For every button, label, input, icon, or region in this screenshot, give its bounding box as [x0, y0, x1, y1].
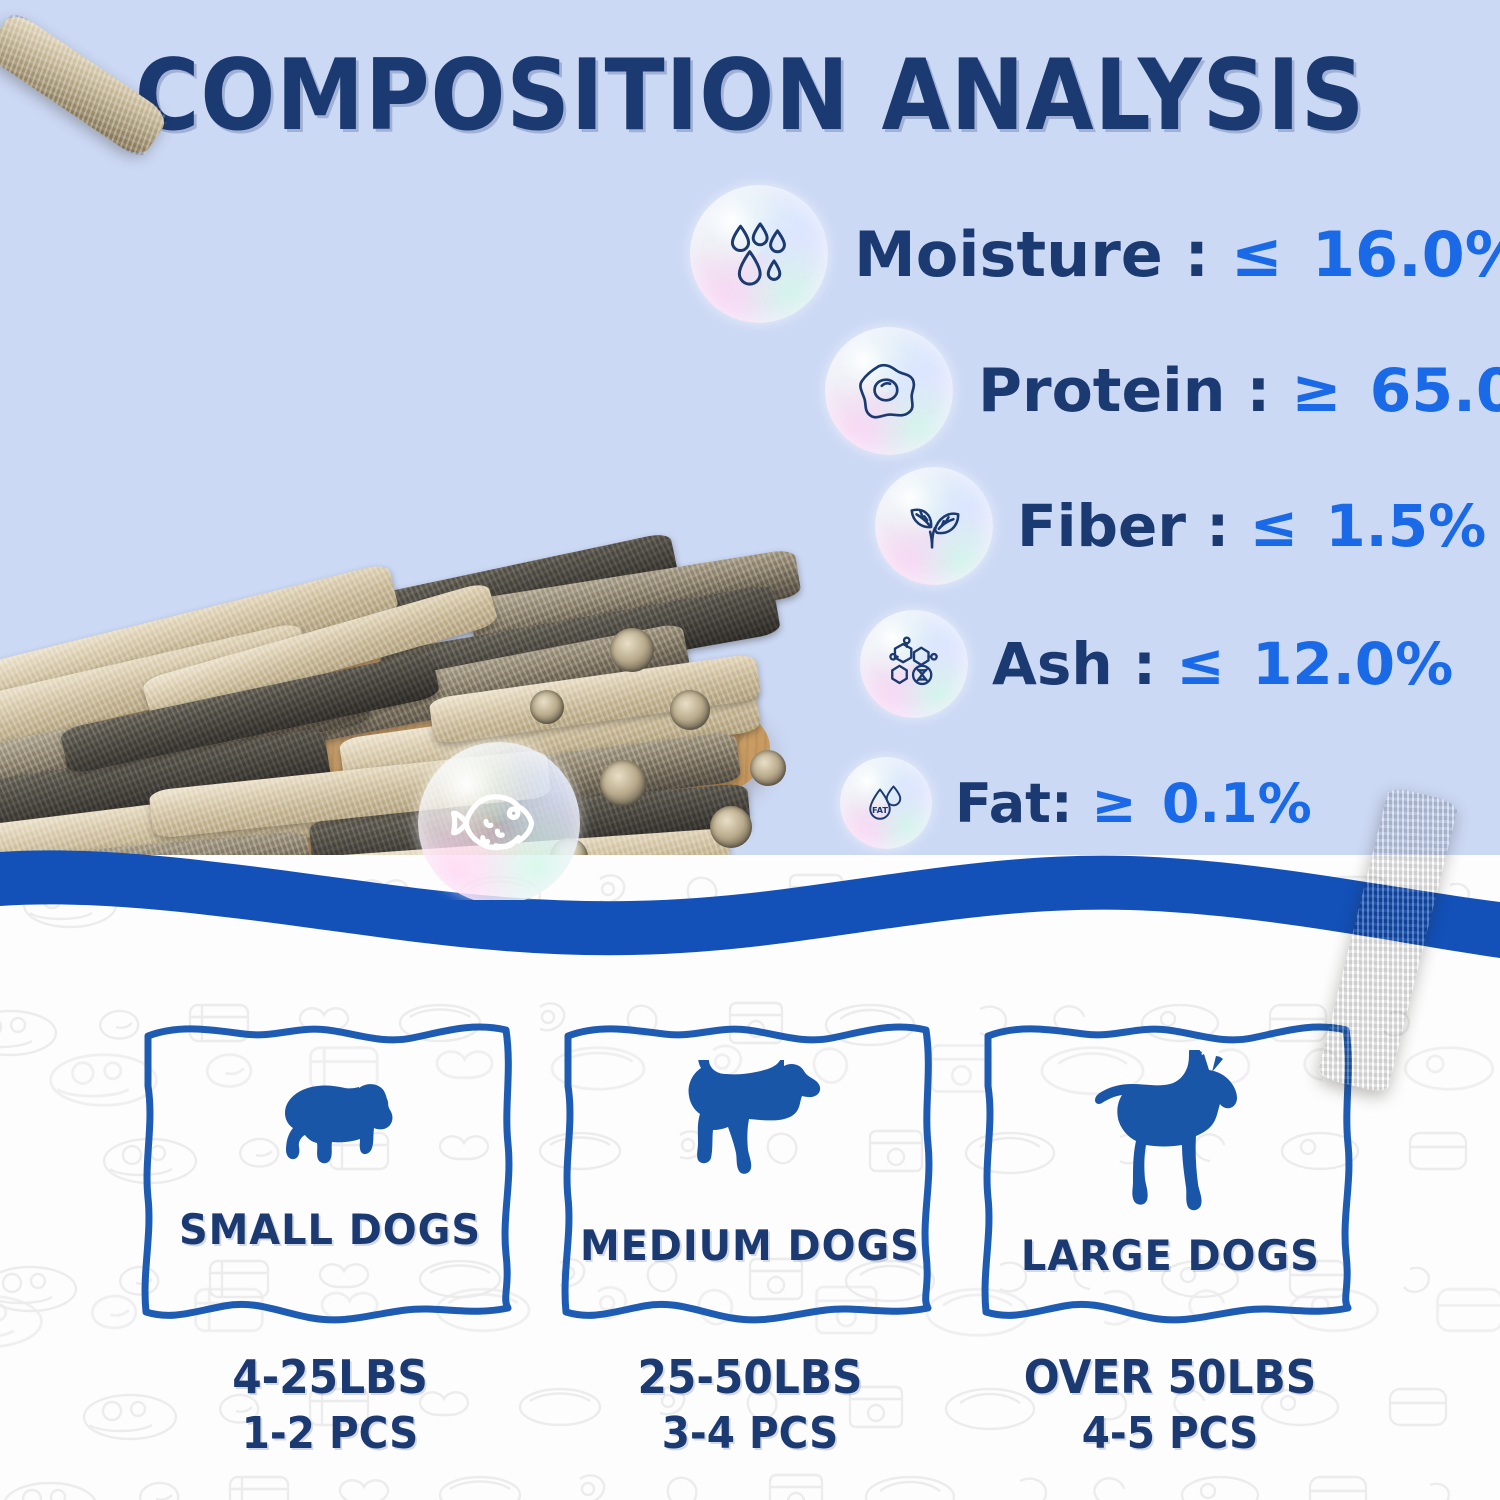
nutrient-value: 65.0% [1370, 356, 1500, 426]
nutrient-text: Fiber : ≤ 1.5% [1017, 492, 1486, 560]
dog-size-spec: 4-25LBS 1-2 PCS [137, 1348, 523, 1488]
nutrient-row: Moisture : ≤ 16.0% [690, 185, 1500, 323]
nutrient-operator: ≤ [1176, 630, 1225, 698]
nutrient-row: Ash : ≤ 12.0% [860, 610, 1453, 718]
dog-size-specs: 4-25LBS 1-2 PCS25-50LBS 3-4 PCSOVER 50LB… [0, 1348, 1500, 1488]
nutrient-text: Protein : ≥ 65.0% [978, 356, 1500, 426]
fried-egg-icon [856, 358, 922, 424]
dog-size-card: LARGE DOGS [960, 1000, 1380, 1330]
nutrient-label: Fiber : [1017, 492, 1229, 560]
molecule-icon-bubble [860, 610, 968, 718]
dog-piece-count: 4-5 PCS [977, 1406, 1363, 1462]
fried-egg-icon-bubble [825, 327, 953, 455]
dog-size-spec: OVER 50LBS 4-5 PCS [977, 1348, 1363, 1488]
wavy-divider [0, 810, 1500, 1010]
page-title: COMPOSITION ANALYSIS [75, 44, 1425, 148]
dog-size-label: LARGE DOGS [1021, 1231, 1320, 1280]
dog-weight-range: 4-25LBS [137, 1348, 523, 1406]
composition-analysis-section: COMPOSITION ANALYSIS Moisture : ≤ 16.0% [0, 0, 1500, 900]
fish-icon [447, 771, 551, 875]
medium-dog-icon-wrapper [666, 1060, 834, 1215]
molecule-icon [885, 635, 943, 693]
nutrient-row: Protein : ≥ 65.0% [825, 327, 1500, 455]
nutrient-value: 12.0% [1252, 630, 1453, 698]
small-dog-icon-wrapper [255, 1076, 405, 1199]
nutrient-row: Fiber : ≤ 1.5% [875, 467, 1486, 585]
nutrient-label: Protein : [978, 356, 1270, 426]
dog-size-label: MEDIUM DOGS [580, 1221, 920, 1270]
dog-weight-range: OVER 50LBS [977, 1348, 1363, 1406]
fish-skin-roll-end [600, 760, 646, 806]
nutrient-operator: ≤ [1250, 492, 1299, 560]
water-drops-icon [722, 217, 796, 291]
dog-size-cards: SMALL DOGS MEDIUM DOGS LARGE DOGS [0, 1000, 1500, 1340]
nutrient-operator: ≤ [1231, 218, 1283, 291]
dog-size-card: MEDIUM DOGS [540, 1000, 960, 1330]
nutrient-text: Ash : ≤ 12.0% [992, 630, 1453, 698]
medium-dog-icon [666, 1060, 834, 1210]
product-photo [0, 285, 790, 875]
dog-piece-count: 1-2 PCS [137, 1406, 523, 1462]
dog-piece-count: 3-4 PCS [557, 1406, 943, 1462]
dog-size-label: SMALL DOGS [179, 1205, 481, 1254]
leaf-plant-icon [903, 495, 965, 557]
fish-skin-roll-end [610, 628, 654, 672]
fish-skin-roll-end [530, 690, 564, 724]
nutrient-text: Moisture : ≤ 16.0% [854, 218, 1500, 291]
nutrient-operator: ≥ [1291, 356, 1341, 426]
dog-weight-range: 25-50LBS [557, 1348, 943, 1406]
nutrient-label: Moisture : [854, 218, 1209, 291]
large-dog-icon [1084, 1050, 1256, 1220]
dog-size-card: SMALL DOGS [120, 1000, 540, 1330]
water-drops-icon-bubble [690, 185, 828, 323]
fish-icon-bubble [418, 742, 580, 900]
nutrient-value: 1.5% [1325, 492, 1486, 560]
leaf-plant-icon-bubble [875, 467, 993, 585]
dog-size-spec: 25-50LBS 3-4 PCS [557, 1348, 943, 1488]
small-dog-icon [255, 1076, 405, 1194]
nutrient-list: Moisture : ≤ 16.0% Protein : ≥ 65.0% Fib… [690, 185, 1490, 885]
nutrient-value: 16.0% [1312, 218, 1500, 291]
nutrient-label: Ash : [992, 630, 1156, 698]
large-dog-icon-wrapper [1084, 1050, 1256, 1225]
